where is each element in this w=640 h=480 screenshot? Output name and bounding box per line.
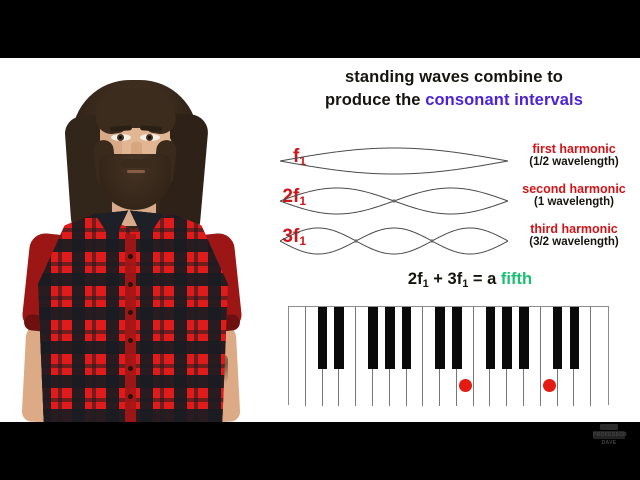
- harmonic-row: 2f1second harmonic(1 wavelength): [260, 182, 640, 222]
- piano-white-key[interactable]: [591, 307, 608, 406]
- equation-result: fifth: [501, 270, 532, 288]
- piano-black-key[interactable]: [486, 307, 496, 369]
- title-line-1: standing waves combine to: [345, 68, 563, 86]
- mouth: [127, 170, 145, 173]
- equation-term-1: 2f: [408, 270, 423, 288]
- harmonic-name: third harmonic: [508, 222, 640, 236]
- watermark-cap: [600, 424, 618, 430]
- piano-black-key[interactable]: [385, 307, 395, 369]
- piano-black-key[interactable]: [519, 307, 529, 369]
- harmonic-caption: second harmonic(1 wavelength): [508, 182, 640, 210]
- piano-black-key[interactable]: [318, 307, 328, 369]
- harmonic-caption: first harmonic(1/2 wavelength): [508, 142, 640, 170]
- presenter-figure: [0, 58, 268, 422]
- standing-wave-curve: [280, 142, 508, 180]
- piano-black-key[interactable]: [435, 307, 445, 369]
- moustache: [120, 159, 152, 168]
- piano-black-key[interactable]: [570, 307, 580, 369]
- piano-key-marker: [543, 379, 556, 392]
- harmonic-caption: third harmonic(3/2 wavelength): [508, 222, 640, 250]
- pupil-right: [148, 136, 151, 139]
- title-accent-phrase: consonant intervals: [425, 91, 583, 109]
- harmonic-wavelength: (1/2 wavelength): [508, 156, 640, 169]
- shirt-button: [128, 394, 133, 399]
- shirt-button: [128, 310, 133, 315]
- video-frame: standing waves combine to produce the co…: [0, 0, 640, 480]
- channel-watermark: PROFESSOR DAVE: [588, 424, 630, 446]
- standing-wave-curve: [280, 222, 508, 260]
- slide-canvas: standing waves combine to produce the co…: [0, 58, 640, 422]
- harmonics-diagram: f1first harmonic(1/2 wavelength)2f1secon…: [260, 142, 640, 262]
- piano-black-key[interactable]: [402, 307, 412, 369]
- shirt-button: [128, 366, 133, 371]
- piano-key-marker: [459, 379, 472, 392]
- piano-keyboard[interactable]: [288, 306, 609, 405]
- piano-white-key[interactable]: [289, 307, 306, 406]
- harmonic-name: second harmonic: [508, 182, 640, 196]
- harmonic-name: first harmonic: [508, 142, 640, 156]
- piano-black-key[interactable]: [553, 307, 563, 369]
- shirt-button: [128, 282, 133, 287]
- equation-term-2: 3f: [448, 270, 463, 288]
- standing-wave-curve: [280, 182, 508, 220]
- interval-equation: 2f1 + 3f1 = a fifth: [300, 270, 640, 290]
- harmonic-wavelength: (3/2 wavelength): [508, 236, 640, 249]
- equation-operator: +: [429, 270, 448, 288]
- piano-black-key[interactable]: [452, 307, 462, 369]
- harmonic-row: 3f1third harmonic(3/2 wavelength): [260, 222, 640, 262]
- shirt-button: [128, 254, 133, 259]
- piano-black-key[interactable]: [334, 307, 344, 369]
- title-line-2-prefix: produce the: [325, 91, 425, 109]
- slide-title: standing waves combine to produce the co…: [268, 66, 640, 113]
- piano-black-key[interactable]: [502, 307, 512, 369]
- letterbox-bar-top: [0, 0, 640, 58]
- harmonic-wavelength: (1 wavelength): [508, 196, 640, 209]
- letterbox-bar-bottom: [0, 422, 640, 480]
- equation-equals: = a: [468, 270, 501, 288]
- piano-black-key[interactable]: [368, 307, 378, 369]
- pupil-left: [119, 136, 122, 139]
- watermark-label: PROFESSOR DAVE: [593, 431, 625, 439]
- harmonic-row: f1first harmonic(1/2 wavelength): [260, 142, 640, 182]
- shirt-button: [128, 338, 133, 343]
